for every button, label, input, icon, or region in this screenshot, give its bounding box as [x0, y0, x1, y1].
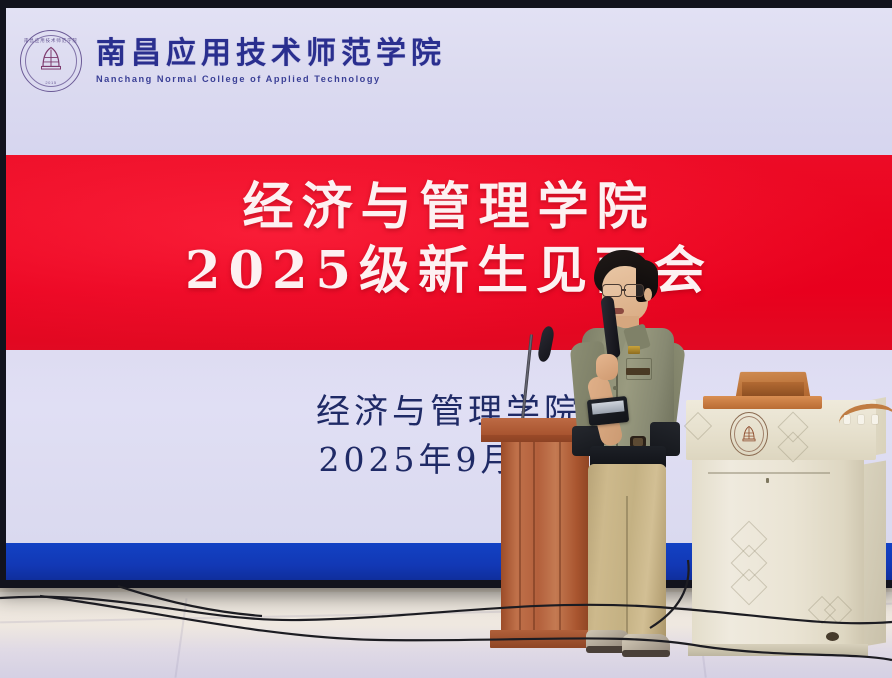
school-name-cn: 南昌应用技术师范学院	[96, 39, 446, 69]
school-logo-row: 南昌应用技术师范学院 2015 南昌应用技术师范学院 Nanchang Norm…	[20, 30, 446, 92]
podium-latch-knob[interactable]	[766, 478, 769, 483]
lectern-groove	[519, 442, 521, 632]
podium-control-button[interactable]	[858, 415, 864, 424]
trouser-seam	[626, 496, 628, 642]
podium-control-button[interactable]	[844, 415, 850, 424]
podium-school-seal-icon	[730, 412, 768, 456]
event-title-line1: 经济与管理学院	[6, 176, 892, 238]
shirt-logo-patch	[626, 368, 650, 375]
podium-control-button[interactable]	[872, 415, 878, 424]
ear	[644, 288, 652, 301]
glasses-right-lens	[624, 284, 644, 297]
school-seal-icon: 南昌应用技术师范学院 2015	[20, 30, 82, 92]
seal-arc-top-text: 南昌应用技术师范学院	[24, 38, 78, 44]
glasses-bridge	[621, 289, 626, 291]
shirt-button	[613, 386, 617, 390]
event-title-line2: 2025级新生见面会	[6, 240, 892, 302]
hand-holding-microphone	[596, 354, 618, 380]
event-title: 经济与管理学院 2025级新生见面会	[6, 176, 892, 302]
shoe-sole-right	[622, 650, 670, 657]
lectern-groove	[533, 442, 535, 632]
presentation-photo: 南昌应用技术师范学院 2015 南昌应用技术师范学院 Nanchang Norm…	[0, 0, 892, 678]
lapel-badge	[628, 346, 640, 354]
school-name-block: 南昌应用技术师范学院 Nanchang Normal College of Ap…	[96, 39, 446, 84]
glasses-left-lens	[602, 284, 622, 297]
podium-seal-bell-glyph	[742, 425, 757, 444]
seal-bell-glyph	[40, 46, 62, 74]
speaker-person	[560, 250, 690, 662]
podium-monitor-face	[742, 382, 804, 396]
seal-arc-bottom-text: 2015	[45, 80, 56, 85]
podium-wood-lip	[703, 396, 822, 409]
podium-panel-seam	[708, 472, 830, 474]
podium-foot	[688, 644, 868, 656]
cream-podium	[686, 386, 886, 656]
school-name-en: Nanchang Normal College of Applied Techn…	[96, 74, 446, 84]
podium-cable-port	[826, 632, 839, 641]
